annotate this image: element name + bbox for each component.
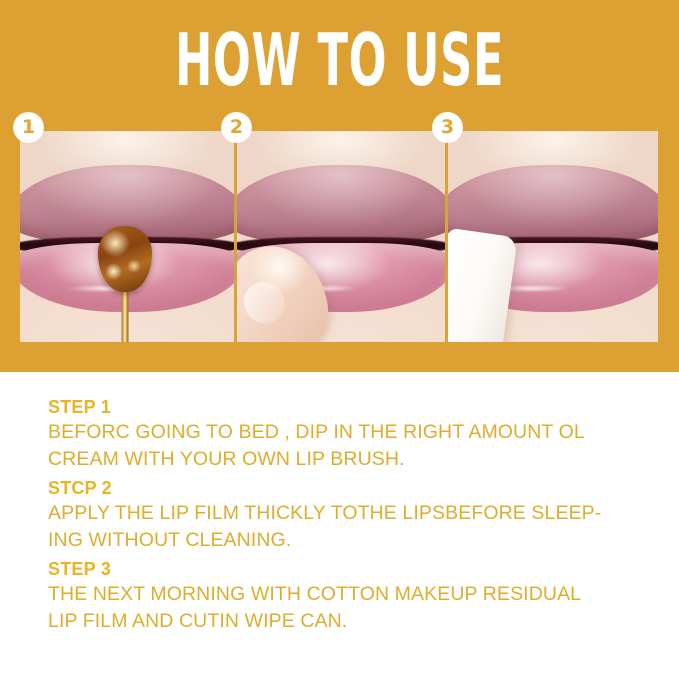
step-1-body: BEFORC GOING TO BED , DIP IN THE RIGHT A… [48, 419, 648, 473]
step-3-body: THE NEXT MORNING WITH COTTON MAKEUP RESI… [48, 581, 648, 635]
step-badge-3: 3 [433, 113, 462, 142]
step-image-3 [448, 131, 658, 342]
step-image-2 [237, 131, 445, 342]
step-entry-1: STEP 1 BEFORC GOING TO BED , DIP IN THE … [48, 396, 648, 473]
image-strip [20, 131, 658, 342]
step-entry-3: STEP 3 THE NEXT MORNING WITH COTTON MAKE… [48, 558, 648, 635]
how-to-use-infographic: HOW TO USE [0, 0, 679, 679]
step-3-title: STEP 3 [48, 558, 648, 581]
step-2-title: STCP 2 [48, 477, 648, 500]
step-2-body: APPLY THE LIP FILM THICKLY TOTHE LIPSBEF… [48, 500, 648, 554]
step-badge-1: 1 [14, 113, 43, 142]
page-title: HOW TO USE [129, 26, 550, 94]
step-1-title: STEP 1 [48, 396, 648, 419]
upper-lip [237, 165, 445, 245]
steps-text-block: STEP 1 BEFORC GOING TO BED , DIP IN THE … [48, 396, 648, 639]
fingernail-icon [237, 274, 293, 331]
step-entry-2: STCP 2 APPLY THE LIP FILM THICKLY TOTHE … [48, 477, 648, 554]
step-image-1 [20, 131, 234, 342]
step-badge-2: 2 [222, 113, 251, 142]
